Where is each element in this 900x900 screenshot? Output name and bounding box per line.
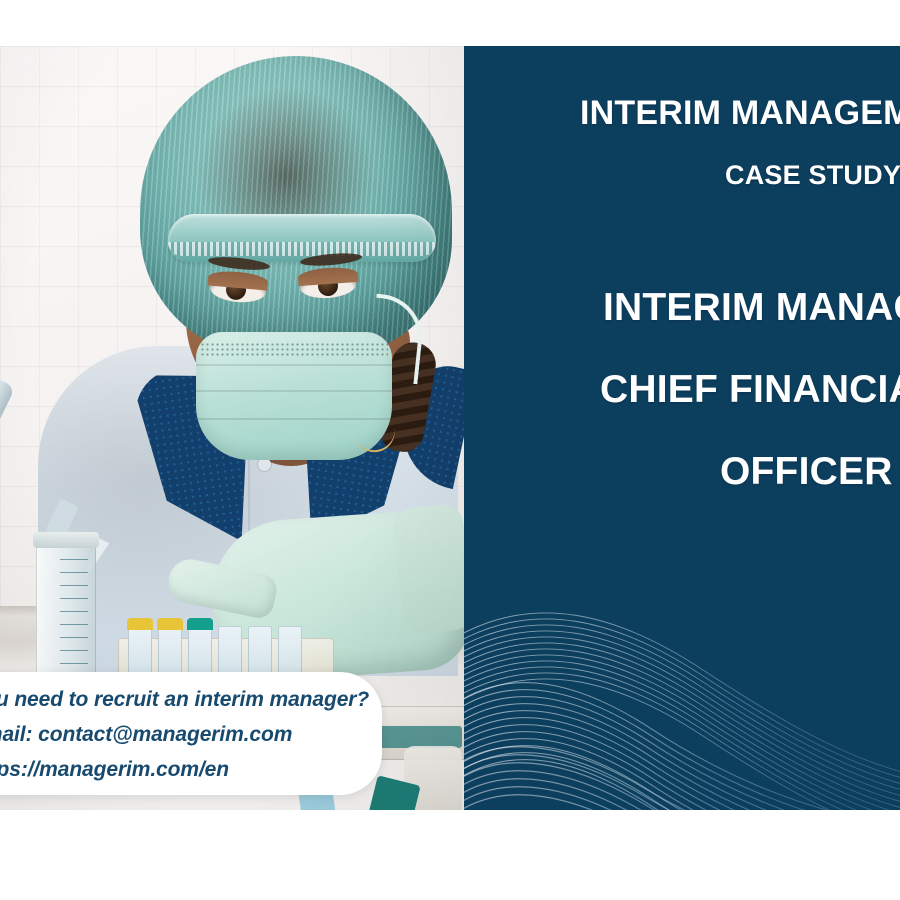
sample-slide-cap (157, 618, 183, 630)
contact-card: You need to recruit an interim manager? … (0, 672, 382, 795)
panel-title-line-1: INTERIM MANAGER (603, 286, 900, 330)
contact-question: You need to recruit an interim manager? (0, 682, 382, 717)
mask-pleat (196, 364, 392, 366)
tube-cap (33, 532, 99, 548)
sample-slide-cap (127, 618, 153, 630)
glove-cuff (392, 503, 464, 636)
mask-top-stitching (200, 342, 388, 358)
panel-title-line-3: OFFICER (720, 450, 893, 494)
hairnet-ruffle (168, 242, 436, 256)
banner-stage: You need to recruit an interim manager? … (0, 0, 900, 900)
panel-title-line-2: CHIEF FINANCIAL (600, 368, 900, 412)
sample-slide-cap (187, 618, 213, 630)
interim-management-banner: You need to recruit an interim manager? … (0, 46, 900, 810)
wave-line-decoration (464, 576, 900, 810)
navy-title-panel: INTERIM MANAGEMENT CASE STUDY INTERIM MA… (464, 46, 900, 810)
mask-pleat (196, 390, 392, 392)
contact-website[interactable]: https://managerim.com/en (0, 752, 382, 787)
contact-email[interactable]: Email: contact@managerim.com (0, 717, 382, 752)
panel-subkicker: CASE STUDY (725, 160, 900, 191)
mask-pleat (196, 418, 392, 420)
panel-kicker: INTERIM MANAGEMENT (580, 94, 900, 133)
lab-technician-photo: You need to recruit an interim manager? … (0, 46, 464, 810)
